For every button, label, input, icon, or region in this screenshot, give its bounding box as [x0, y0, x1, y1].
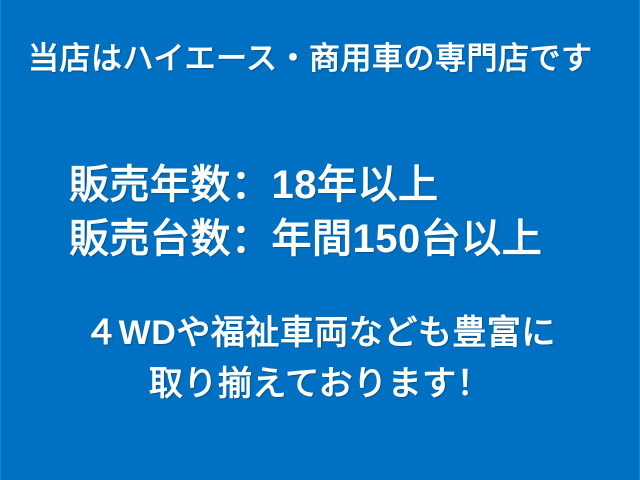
closing-line-inventory: ４WDや福祉車両なども豊富に — [1, 308, 639, 359]
promo-banner: 当店はハイエース・商用車の専門店です 販売年数：18年以上 販売台数：年間150… — [0, 0, 640, 480]
stats-block: 販売年数：18年以上 販売台数：年間150台以上 — [69, 158, 542, 266]
stat-line-sales-units: 販売台数：年間150台以上 — [69, 212, 542, 266]
stat-line-sales-years: 販売年数：18年以上 — [69, 158, 542, 212]
closing-block: ４WDや福祉車両なども豊富に 取り揃えております！ — [1, 308, 639, 410]
closing-line-availability: 取り揃えております！ — [1, 359, 639, 410]
page-title: 当店はハイエース・商用車の専門店です — [28, 41, 593, 77]
